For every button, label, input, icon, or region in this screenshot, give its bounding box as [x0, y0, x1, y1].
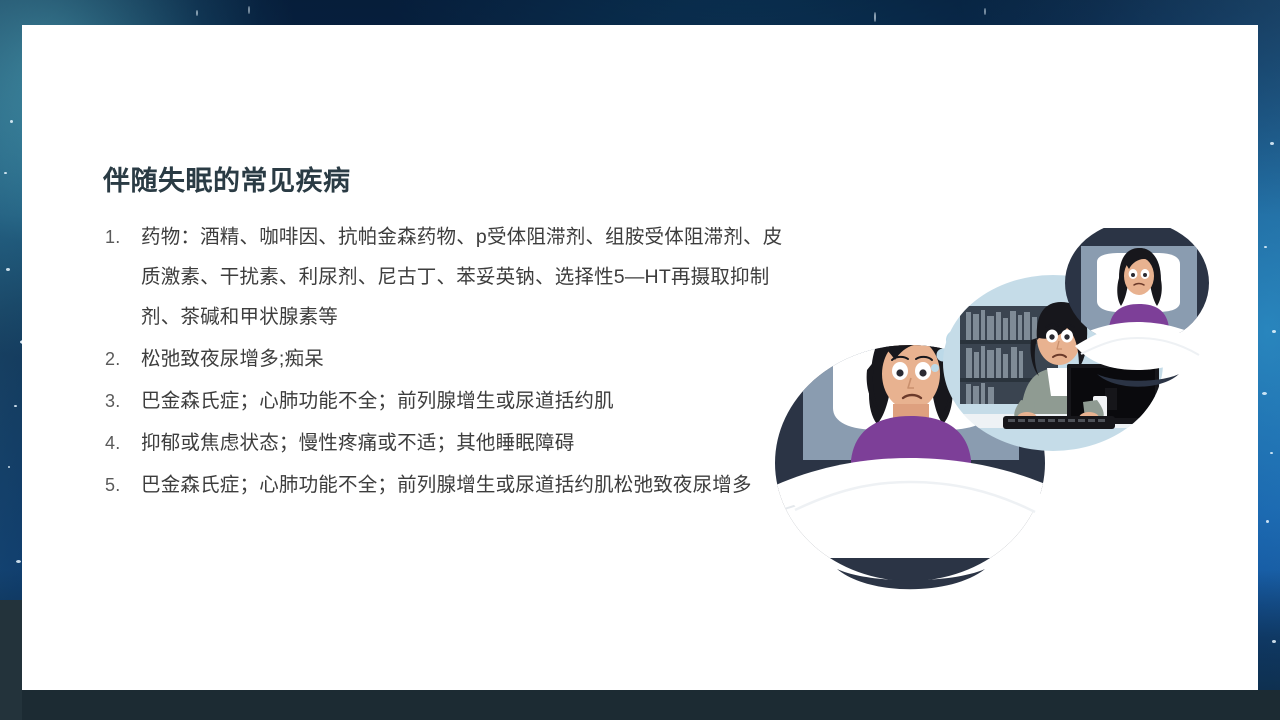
presentation-slide: 伴随失眠的常见疾病 1. 药物：酒精、咖啡因、抗帕金森药物、p受体阻滞剂、组胺受…: [0, 0, 1280, 720]
list-item-text: 巴金森氏症；心肺功能不全；前列腺增生或尿道括约肌: [141, 381, 783, 421]
page-title: 伴随失眠的常见疾病: [103, 165, 783, 197]
list-item-number: 3.: [105, 381, 133, 421]
list-item-number: 4.: [105, 423, 133, 463]
list-item: 4. 抑郁或焦虑状态；慢性疼痛或不适；其他睡眠障碍: [103, 423, 783, 463]
list-item-text: 抑郁或焦虑状态；慢性疼痛或不适；其他睡眠障碍: [141, 423, 783, 463]
disease-list: 1. 药物：酒精、咖啡因、抗帕金森药物、p受体阻滞剂、组胺受体阻滞剂、皮质激素、…: [103, 217, 783, 505]
list-item-text: 松弛致夜尿增多;痴呆: [141, 339, 783, 379]
list-item-text: 药物：酒精、咖啡因、抗帕金森药物、p受体阻滞剂、组胺受体阻滞剂、皮质激素、干扰素…: [141, 217, 783, 337]
list-item: 1. 药物：酒精、咖啡因、抗帕金森药物、p受体阻滞剂、组胺受体阻滞剂、皮质激素、…: [103, 217, 783, 337]
list-item-text: 巴金森氏症；心肺功能不全；前列腺增生或尿道括约肌松弛致夜尿增多: [141, 465, 783, 505]
insomnia-illustration: [775, 228, 1225, 628]
list-item-number: 2.: [105, 339, 133, 379]
list-item: 5. 巴金森氏症；心肺功能不全；前列腺增生或尿道括约肌松弛致夜尿增多: [103, 465, 783, 505]
list-item-number: 1.: [105, 217, 133, 257]
list-item-number: 5.: [105, 465, 133, 505]
list-item: 3. 巴金森氏症；心肺功能不全；前列腺增生或尿道括约肌: [103, 381, 783, 421]
list-item: 2. 松弛致夜尿增多;痴呆: [103, 339, 783, 379]
bottom-accent-band: [0, 690, 1280, 720]
bottom-left-edge: [0, 600, 22, 720]
slide-text-column: 伴随失眠的常见疾病 1. 药物：酒精、咖啡因、抗帕金森药物、p受体阻滞剂、组胺受…: [103, 165, 783, 507]
